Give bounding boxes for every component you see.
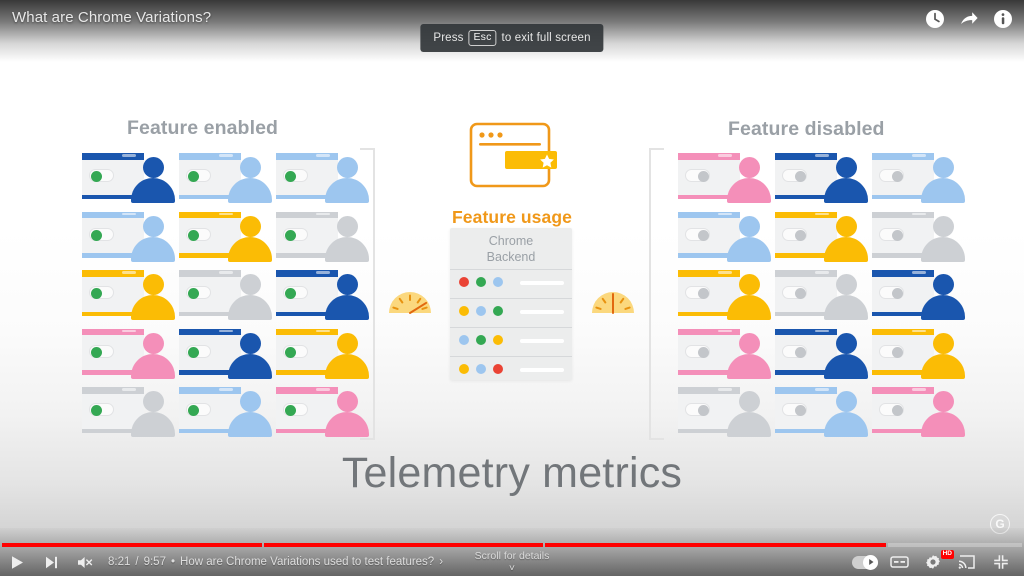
avatar-body bbox=[228, 295, 272, 320]
data-bar bbox=[520, 368, 564, 372]
feature-toggle-disabled[interactable] bbox=[685, 345, 710, 358]
avatar bbox=[726, 216, 772, 262]
user-card bbox=[870, 326, 966, 383]
browser-window-star-icon bbox=[458, 183, 566, 200]
progress-fill bbox=[545, 543, 886, 547]
feature-toggle-disabled[interactable] bbox=[782, 228, 807, 241]
user-card bbox=[177, 267, 273, 324]
avatar-head bbox=[739, 274, 760, 295]
avatar bbox=[726, 333, 772, 379]
cast-button[interactable] bbox=[950, 548, 984, 576]
avatar bbox=[823, 157, 869, 203]
toggle-knob bbox=[285, 230, 296, 241]
avatar bbox=[726, 391, 772, 437]
info-icon[interactable] bbox=[992, 8, 1014, 30]
avatar-head bbox=[337, 216, 358, 237]
feature-toggle-disabled[interactable] bbox=[782, 345, 807, 358]
avatar bbox=[130, 274, 176, 320]
user-card bbox=[274, 384, 370, 441]
avatar-head bbox=[739, 157, 760, 178]
avatar-head bbox=[933, 157, 954, 178]
user-card bbox=[870, 209, 966, 266]
chrome-backend-card: Chrome Backend bbox=[450, 228, 572, 380]
chapter-bullet: • bbox=[171, 556, 175, 568]
user-card bbox=[773, 267, 869, 324]
data-bar bbox=[520, 310, 564, 314]
avatar-body bbox=[228, 354, 272, 379]
toggle-knob bbox=[91, 405, 102, 416]
user-card bbox=[177, 209, 273, 266]
avatar-head bbox=[836, 333, 857, 354]
status-dot bbox=[493, 364, 503, 374]
avatar-body bbox=[824, 354, 868, 379]
toggle-knob bbox=[892, 230, 903, 241]
channel-watermark[interactable]: G bbox=[990, 514, 1010, 534]
avatar bbox=[227, 157, 273, 203]
avatar-body bbox=[228, 237, 272, 262]
autoplay-knob bbox=[863, 555, 878, 570]
user-card bbox=[870, 150, 966, 207]
toggle-knob bbox=[91, 288, 102, 299]
avatar-head bbox=[836, 157, 857, 178]
user-card bbox=[177, 150, 273, 207]
user-card bbox=[177, 326, 273, 383]
avatar bbox=[920, 391, 966, 437]
subtitles-button[interactable] bbox=[882, 548, 916, 576]
feature-toggle-enabled[interactable] bbox=[283, 403, 308, 416]
current-time: 8:21 bbox=[108, 556, 130, 568]
user-card bbox=[274, 326, 370, 383]
avatar-body bbox=[727, 237, 771, 262]
toggle-knob bbox=[698, 230, 709, 241]
user-card bbox=[274, 267, 370, 324]
avatar bbox=[823, 333, 869, 379]
youtube-fullscreen-player: Feature enabled Feature disabled Feature… bbox=[0, 0, 1024, 576]
avatar bbox=[130, 333, 176, 379]
toggle-knob bbox=[188, 405, 199, 416]
avatar-head bbox=[240, 274, 261, 295]
user-card bbox=[274, 209, 370, 266]
toggle-knob bbox=[188, 230, 199, 241]
watch-later-icon[interactable] bbox=[924, 8, 946, 30]
autoplay-toggle[interactable] bbox=[848, 548, 882, 576]
avatar bbox=[227, 333, 273, 379]
duration: 9:57 bbox=[144, 556, 166, 568]
progress-chapter-segment[interactable] bbox=[545, 543, 886, 547]
user-card bbox=[80, 209, 176, 266]
user-card bbox=[676, 267, 772, 324]
toggle-knob bbox=[892, 405, 903, 416]
time-and-chapter-display: 8:21 / 9:57 • How are Chrome Variations … bbox=[108, 556, 443, 568]
avatar-body bbox=[921, 412, 965, 437]
avatar-body bbox=[228, 412, 272, 437]
play-button[interactable] bbox=[0, 548, 34, 576]
feature-toggle-enabled[interactable] bbox=[89, 403, 114, 416]
progress-chapter-segment[interactable] bbox=[264, 543, 544, 547]
autoplay-track bbox=[852, 556, 878, 569]
toggle-knob bbox=[188, 347, 199, 358]
toggle-knob bbox=[795, 288, 806, 299]
avatar-body bbox=[824, 412, 868, 437]
data-bar bbox=[520, 339, 564, 343]
feature-toggle-enabled[interactable] bbox=[89, 228, 114, 241]
avatar bbox=[920, 216, 966, 262]
user-card bbox=[870, 267, 966, 324]
feature-toggle-disabled[interactable] bbox=[685, 286, 710, 299]
backend-row bbox=[450, 298, 572, 323]
user-card bbox=[80, 150, 176, 207]
avatar-body bbox=[921, 237, 965, 262]
avatar-head bbox=[933, 216, 954, 237]
avatar bbox=[227, 391, 273, 437]
progress-chapter-segment[interactable] bbox=[888, 543, 1022, 547]
toggle-knob bbox=[285, 171, 296, 182]
user-card bbox=[676, 384, 772, 441]
gauge-left-icon bbox=[386, 285, 434, 315]
avatar bbox=[823, 216, 869, 262]
avatar-head bbox=[836, 391, 857, 412]
status-dot bbox=[459, 364, 469, 374]
toggle-knob bbox=[698, 171, 709, 182]
user-card bbox=[177, 384, 273, 441]
feature-toggle-disabled[interactable] bbox=[685, 228, 710, 241]
toggle-knob bbox=[285, 347, 296, 358]
toggle-knob bbox=[698, 405, 709, 416]
status-dot bbox=[476, 277, 486, 287]
avatar-head bbox=[933, 333, 954, 354]
avatar-body bbox=[921, 295, 965, 320]
chapter-arrow-icon[interactable]: › bbox=[439, 556, 443, 568]
avatar-body bbox=[727, 178, 771, 203]
chevron-down-icon: ˅ bbox=[475, 562, 550, 574]
feature-toggle-disabled[interactable] bbox=[879, 228, 904, 241]
status-dot bbox=[476, 335, 486, 345]
avatar-body bbox=[131, 295, 175, 320]
avatar-body bbox=[228, 178, 272, 203]
gauge-right-icon bbox=[589, 285, 637, 315]
mute-button[interactable] bbox=[68, 548, 102, 576]
progress-chapter-segment[interactable] bbox=[2, 543, 262, 547]
esc-key-cap: Esc bbox=[469, 30, 497, 46]
share-icon[interactable] bbox=[958, 8, 980, 30]
feature-toggle-enabled[interactable] bbox=[186, 169, 211, 182]
chrome-backend-rows bbox=[450, 269, 572, 381]
user-card bbox=[773, 384, 869, 441]
avatar-head bbox=[337, 274, 358, 295]
exit-fullscreen-button[interactable] bbox=[984, 548, 1018, 576]
backend-row bbox=[450, 269, 572, 294]
bracket-right bbox=[649, 148, 664, 440]
feature-toggle-disabled[interactable] bbox=[879, 286, 904, 299]
feature-toggle-disabled[interactable] bbox=[685, 169, 710, 182]
status-dot bbox=[459, 277, 469, 287]
backend-row bbox=[450, 356, 572, 381]
hd-badge: HD bbox=[941, 550, 954, 559]
user-card bbox=[274, 150, 370, 207]
avatar-head bbox=[240, 157, 261, 178]
feature-toggle-enabled[interactable] bbox=[283, 169, 308, 182]
feature-usage-block: Feature usage bbox=[447, 118, 577, 228]
avatar-head bbox=[240, 216, 261, 237]
avatar-head bbox=[143, 216, 164, 237]
avatar-body bbox=[921, 178, 965, 203]
toggle-knob bbox=[892, 288, 903, 299]
avatar-head bbox=[337, 391, 358, 412]
feature-toggle-disabled[interactable] bbox=[782, 286, 807, 299]
avatar bbox=[920, 157, 966, 203]
exit-fullscreen-hint: Press Esc to exit full screen bbox=[420, 24, 603, 52]
avatar bbox=[130, 157, 176, 203]
avatar-body bbox=[131, 412, 175, 437]
user-card bbox=[80, 267, 176, 324]
data-bar bbox=[520, 281, 564, 285]
feature-toggle-disabled[interactable] bbox=[782, 403, 807, 416]
avatar-body bbox=[824, 237, 868, 262]
status-dot bbox=[493, 306, 503, 316]
next-video-button[interactable] bbox=[34, 548, 68, 576]
avatar bbox=[130, 391, 176, 437]
avatar bbox=[726, 157, 772, 203]
feature-toggle-enabled[interactable] bbox=[186, 286, 211, 299]
right-controls-group: HD bbox=[848, 548, 1024, 576]
settings-button[interactable]: HD bbox=[916, 548, 950, 576]
user-card bbox=[773, 150, 869, 207]
user-card bbox=[676, 209, 772, 266]
avatar-body bbox=[824, 178, 868, 203]
user-card bbox=[773, 326, 869, 383]
toggle-knob bbox=[91, 171, 102, 182]
toggle-knob bbox=[698, 288, 709, 299]
feature-toggle-enabled[interactable] bbox=[186, 403, 211, 416]
heading-feature-disabled: Feature disabled bbox=[728, 118, 885, 141]
avatar-head bbox=[240, 391, 261, 412]
status-dot bbox=[459, 335, 469, 345]
avatar-head bbox=[739, 333, 760, 354]
avatar-head bbox=[240, 333, 261, 354]
scroll-for-details-hint[interactable]: Scroll for details ˅ bbox=[475, 550, 550, 574]
feature-toggle-enabled[interactable] bbox=[283, 345, 308, 358]
avatar bbox=[823, 391, 869, 437]
feature-toggle-enabled[interactable] bbox=[89, 286, 114, 299]
video-frame[interactable]: Feature enabled Feature disabled Feature… bbox=[0, 0, 1024, 576]
time-separator: / bbox=[135, 556, 138, 568]
toggle-knob bbox=[892, 347, 903, 358]
user-card bbox=[676, 150, 772, 207]
user-card bbox=[773, 209, 869, 266]
toggle-knob bbox=[795, 405, 806, 416]
feature-toggle-enabled[interactable] bbox=[89, 345, 114, 358]
toggle-knob bbox=[795, 230, 806, 241]
avatar-head bbox=[933, 391, 954, 412]
feature-toggle-enabled[interactable] bbox=[283, 228, 308, 241]
status-dot bbox=[459, 306, 469, 316]
feature-toggle-disabled[interactable] bbox=[879, 345, 904, 358]
feature-toggle-disabled[interactable] bbox=[879, 403, 904, 416]
avatar-body bbox=[727, 354, 771, 379]
feature-toggle-disabled[interactable] bbox=[685, 403, 710, 416]
avatar-body bbox=[921, 354, 965, 379]
avatar-head bbox=[143, 391, 164, 412]
avatar-head bbox=[143, 157, 164, 178]
avatar-body bbox=[824, 295, 868, 320]
progress-fill bbox=[2, 543, 262, 547]
feature-toggle-enabled[interactable] bbox=[283, 286, 308, 299]
avatar-body bbox=[131, 178, 175, 203]
toggle-knob bbox=[285, 405, 296, 416]
status-dot bbox=[493, 277, 503, 287]
avatar-head bbox=[337, 157, 358, 178]
avatar bbox=[920, 333, 966, 379]
avatar-head bbox=[337, 333, 358, 354]
avatar-body bbox=[727, 412, 771, 437]
feature-toggle-enabled[interactable] bbox=[89, 169, 114, 182]
avatar-head bbox=[739, 216, 760, 237]
feature-enabled-grid bbox=[80, 150, 370, 442]
esc-hint-prefix: Press bbox=[433, 32, 463, 44]
heading-feature-enabled: Feature enabled bbox=[127, 117, 278, 140]
avatar-head bbox=[836, 274, 857, 295]
toggle-knob bbox=[285, 288, 296, 299]
feature-toggle-disabled[interactable] bbox=[879, 169, 904, 182]
avatar bbox=[920, 274, 966, 320]
avatar-head bbox=[836, 216, 857, 237]
feature-toggle-enabled[interactable] bbox=[186, 228, 211, 241]
toggle-knob bbox=[91, 347, 102, 358]
top-right-icon-group bbox=[924, 8, 1014, 30]
feature-usage-label: Feature usage bbox=[447, 207, 577, 228]
avatar bbox=[726, 274, 772, 320]
avatar-head bbox=[933, 274, 954, 295]
user-card bbox=[80, 326, 176, 383]
avatar bbox=[823, 274, 869, 320]
avatar-head bbox=[143, 333, 164, 354]
avatar-body bbox=[131, 354, 175, 379]
esc-hint-suffix: to exit full screen bbox=[501, 32, 590, 44]
user-card bbox=[676, 326, 772, 383]
avatar bbox=[227, 216, 273, 262]
toggle-knob bbox=[795, 347, 806, 358]
toggle-knob bbox=[795, 171, 806, 182]
user-card bbox=[80, 384, 176, 441]
progress-fill bbox=[264, 543, 544, 547]
feature-toggle-enabled[interactable] bbox=[186, 345, 211, 358]
scroll-hint-label: Scroll for details bbox=[475, 550, 550, 562]
chapter-title[interactable]: How are Chrome Variations used to test f… bbox=[180, 556, 434, 568]
toggle-knob bbox=[188, 171, 199, 182]
status-dot bbox=[476, 364, 486, 374]
video-title[interactable]: What are Chrome Variations? bbox=[12, 9, 211, 26]
avatar bbox=[130, 216, 176, 262]
avatar-body bbox=[131, 237, 175, 262]
status-dot bbox=[493, 335, 503, 345]
bracket-left bbox=[360, 148, 375, 440]
backend-row bbox=[450, 327, 572, 352]
status-dot bbox=[476, 306, 486, 316]
toggle-knob bbox=[892, 171, 903, 182]
toggle-knob bbox=[91, 230, 102, 241]
slide-bottom-title: Telemetry metrics bbox=[0, 449, 1024, 498]
chrome-backend-title: Chrome Backend bbox=[450, 234, 572, 265]
avatar-head bbox=[143, 274, 164, 295]
avatar-body bbox=[727, 295, 771, 320]
toggle-knob bbox=[698, 347, 709, 358]
user-card bbox=[870, 384, 966, 441]
avatar bbox=[227, 274, 273, 320]
feature-disabled-grid bbox=[676, 150, 966, 442]
feature-toggle-disabled[interactable] bbox=[782, 169, 807, 182]
avatar-head bbox=[739, 391, 760, 412]
toggle-knob bbox=[188, 288, 199, 299]
